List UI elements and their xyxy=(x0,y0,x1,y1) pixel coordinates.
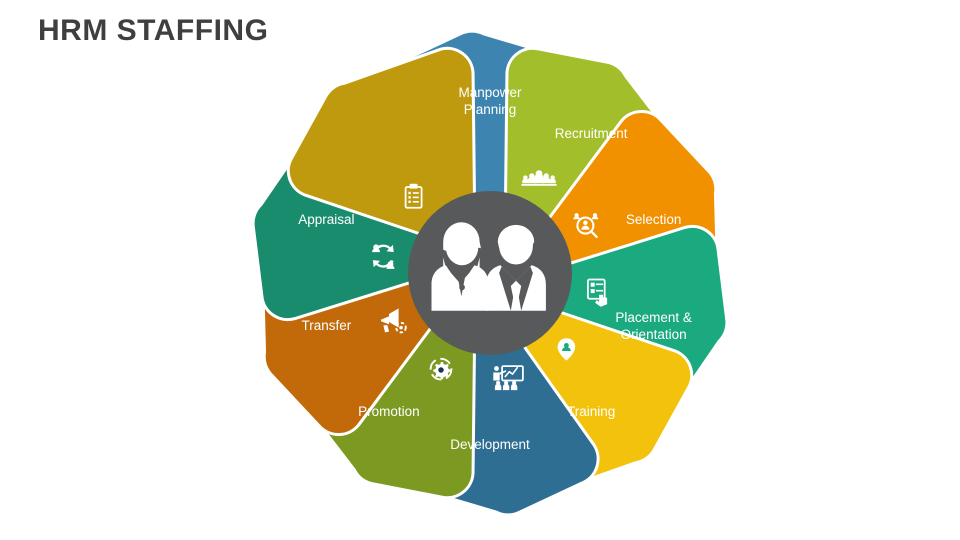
page-title: HRM STAFFING xyxy=(38,14,268,48)
hrm-staffing-petal-wheel: ManpowerPlanningRecruitmentSelectionPlac… xyxy=(240,18,740,528)
center-circle xyxy=(408,191,572,355)
hrm-center-hub xyxy=(408,191,572,355)
